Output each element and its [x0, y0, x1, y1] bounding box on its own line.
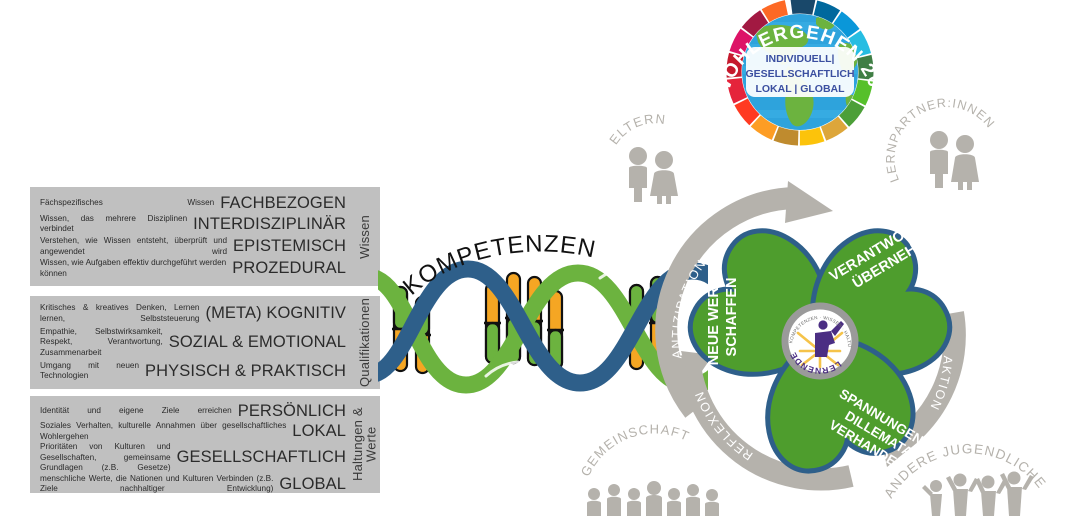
- competency-term: INTERDISZIPLINÄR: [193, 215, 346, 234]
- globe-center-line-1: INDIVIDUELL|: [766, 53, 835, 65]
- competency-description: Empathie, Selbstwirksamkeit, Respekt, Ve…: [40, 327, 165, 359]
- table-row: Soziales Verhalten, kulturelle Annahmen …: [40, 421, 346, 442]
- infographic-canvas: Fächspezifisches Wissen FACHBEZOGEN Wiss…: [0, 0, 1078, 516]
- table-row: Wissen, das mehrere Disziplinen verbinde…: [40, 214, 346, 235]
- globe-center-line-3: LOKAL | GLOBAL: [755, 83, 845, 95]
- table-row: menschliche Werte, die Nationen und Kult…: [40, 474, 346, 495]
- competency-description: Wissen, das mehrere Disziplinen verbinde…: [40, 214, 189, 235]
- competency-term: EPISTEMISCH: [233, 237, 346, 256]
- panel-haltungen-werte-side-label: Haltungen & Werte: [350, 396, 380, 493]
- table-row: Identität und eigene Ziele erreichen PER…: [40, 402, 346, 421]
- wohlergehen-globe: INDIVIDUELL| GESELLSCHAFTLICH LOKAL | GL…: [700, 0, 900, 145]
- competency-description: Wissen, wie Aufgaben effektiv durchgefüh…: [40, 258, 228, 279]
- panel-qualifikationen: Kritisches & kreatives Denken, Lernen le…: [30, 296, 380, 389]
- competency-description: Umgang mit neuen Technologien: [40, 361, 141, 382]
- competency-description: Verstehen, wie Wissen entsteht, überprüf…: [40, 236, 229, 257]
- cycle-arrow-antizipation: [785, 181, 833, 223]
- competency-term: PHYSISCH & PRAKTISCH: [145, 362, 346, 381]
- table-row: Fächspezifisches Wissen FACHBEZOGEN: [40, 194, 346, 213]
- petal-label-neue-werte-line2: SCHAFFEN: [724, 278, 740, 357]
- competency-description: Prioritäten von Kulturen und Gesellschaf…: [40, 442, 173, 474]
- stakeholder-gemeinschaft: GEMEINSCHAFT: [572, 452, 737, 516]
- competency-term: FACHBEZOGEN: [220, 194, 346, 213]
- stakeholder-lernpartner-innen: LERNPARTNER:INNEN: [893, 88, 1011, 204]
- globe-center-line-2: GESELLSCHAFTLICH: [745, 68, 854, 80]
- youth-group-icon: [922, 472, 1034, 516]
- panel-haltungen-werte-rows: Identität und eigene Ziele erreichen PER…: [30, 396, 350, 493]
- panel-haltungen-werte: Identität und eigene Ziele erreichen PER…: [30, 396, 380, 493]
- side-label-text: Haltungen & Werte: [351, 396, 378, 493]
- competency-description: Identität und eigene Ziele erreichen: [40, 406, 234, 417]
- table-row: Prioritäten von Kulturen und Gesellschaf…: [40, 442, 346, 474]
- stakeholder-andere-jugendliche: ANDERE JUGENDLICHE: [880, 440, 1076, 516]
- panel-wissen: Fächspezifisches Wissen FACHBEZOGEN Wiss…: [30, 187, 380, 286]
- crowd-icon: [587, 481, 719, 516]
- competency-description: Fächspezifisches Wissen: [40, 198, 216, 209]
- side-label-text: Qualifikationen: [358, 298, 372, 387]
- competency-description: menschliche Werte, die Nationen und Kult…: [40, 474, 275, 495]
- competency-term: LOKAL: [292, 422, 346, 441]
- two-adults-icon: [629, 147, 678, 204]
- side-label-text: Wissen: [358, 215, 372, 259]
- panel-qualifikationen-rows: Kritisches & kreatives Denken, Lernen le…: [30, 296, 350, 389]
- competency-term: (META) KOGNITIV: [205, 304, 346, 323]
- competency-term: SOZIAL & EMOTIONAL: [169, 333, 346, 352]
- svg-text:ELTERN: ELTERN: [606, 111, 667, 147]
- competency-term: PERSÖNLICH: [238, 402, 346, 421]
- competency-description: Soziales Verhalten, kulturelle Annahmen …: [40, 421, 288, 442]
- table-row: Umgang mit neuen Technologien PHYSISCH &…: [40, 361, 346, 382]
- two-adults-icon: [930, 131, 979, 190]
- table-row: Empathie, Selbstwirksamkeit, Respekt, Ve…: [40, 327, 346, 359]
- panel-qualifikationen-side-label: Qualifikationen: [350, 296, 380, 389]
- competency-term: GESELLSCHAFTLICH: [177, 448, 346, 467]
- competency-term: PROZEDURAL: [232, 259, 346, 278]
- panel-wissen-side-label: Wissen: [350, 187, 380, 286]
- table-row: Verstehen, wie Wissen entsteht, überprüf…: [40, 236, 346, 257]
- stakeholder-eltern: ELTERN: [600, 112, 710, 202]
- petal-label-neue-werte-line1: NEUE WERTE: [706, 268, 722, 365]
- stakeholder-label-eltern: ELTERN: [606, 111, 667, 147]
- competency-term: GLOBAL: [279, 475, 346, 494]
- globe-center-label: INDIVIDUELL| GESELLSCHAFTLICH LOKAL | GL…: [745, 47, 854, 97]
- competency-description: Kritisches & kreatives Denken, Lernen le…: [40, 303, 201, 324]
- table-row: Wissen, wie Aufgaben effektiv durchgefüh…: [40, 258, 346, 279]
- table-row: Kritisches & kreatives Denken, Lernen le…: [40, 303, 346, 324]
- panel-wissen-rows: Fächspezifisches Wissen FACHBEZOGEN Wiss…: [30, 187, 350, 286]
